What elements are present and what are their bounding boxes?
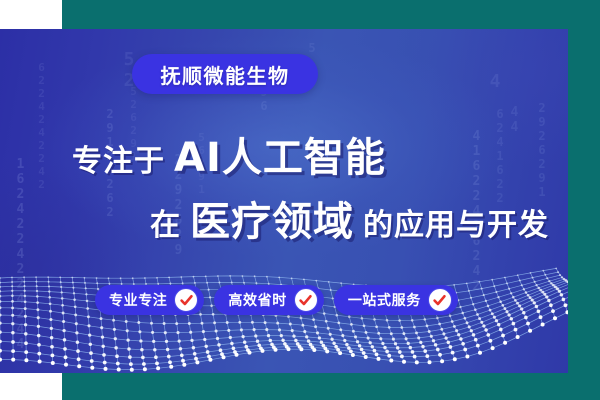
- headline-line1-emphasis: AI人工智能: [174, 125, 386, 183]
- banner-root: 1624224224244622424224229125262526291229…: [0, 0, 600, 400]
- feature-pill-row: 专业专注高效省时一站式服务: [95, 285, 458, 315]
- headline-line2-suffix: 的应用与开发: [363, 200, 549, 244]
- headline-line1-prefix: 专注于: [72, 136, 165, 180]
- poster-panel: 1624224224244622424224229125262526291229…: [0, 29, 568, 373]
- headline-line2-prefix: 在: [150, 200, 181, 244]
- headline-line-1: 专注于 AI人工智能: [0, 125, 568, 183]
- brand-badge: 抚顺微能生物: [132, 54, 318, 94]
- feature-pill[interactable]: 一站式服务: [334, 285, 458, 315]
- check-icon: [294, 288, 318, 312]
- feature-pill[interactable]: 高效省时: [214, 285, 323, 315]
- headline-line-2: 在 医疗领域 的应用与开发: [0, 189, 568, 247]
- feature-pill[interactable]: 专业专注: [95, 285, 204, 315]
- feature-pill-label: 高效省时: [228, 290, 286, 310]
- headline-line2-emphasis: 医疗领域: [190, 189, 354, 247]
- check-icon: [428, 288, 452, 312]
- brand-badge-label: 抚顺微能生物: [161, 60, 290, 89]
- feature-pill-label: 专业专注: [109, 290, 167, 310]
- check-icon: [174, 288, 198, 312]
- headline: 专注于 AI人工智能 在 医疗领域 的应用与开发: [0, 125, 568, 247]
- feature-pill-label: 一站式服务: [348, 290, 421, 310]
